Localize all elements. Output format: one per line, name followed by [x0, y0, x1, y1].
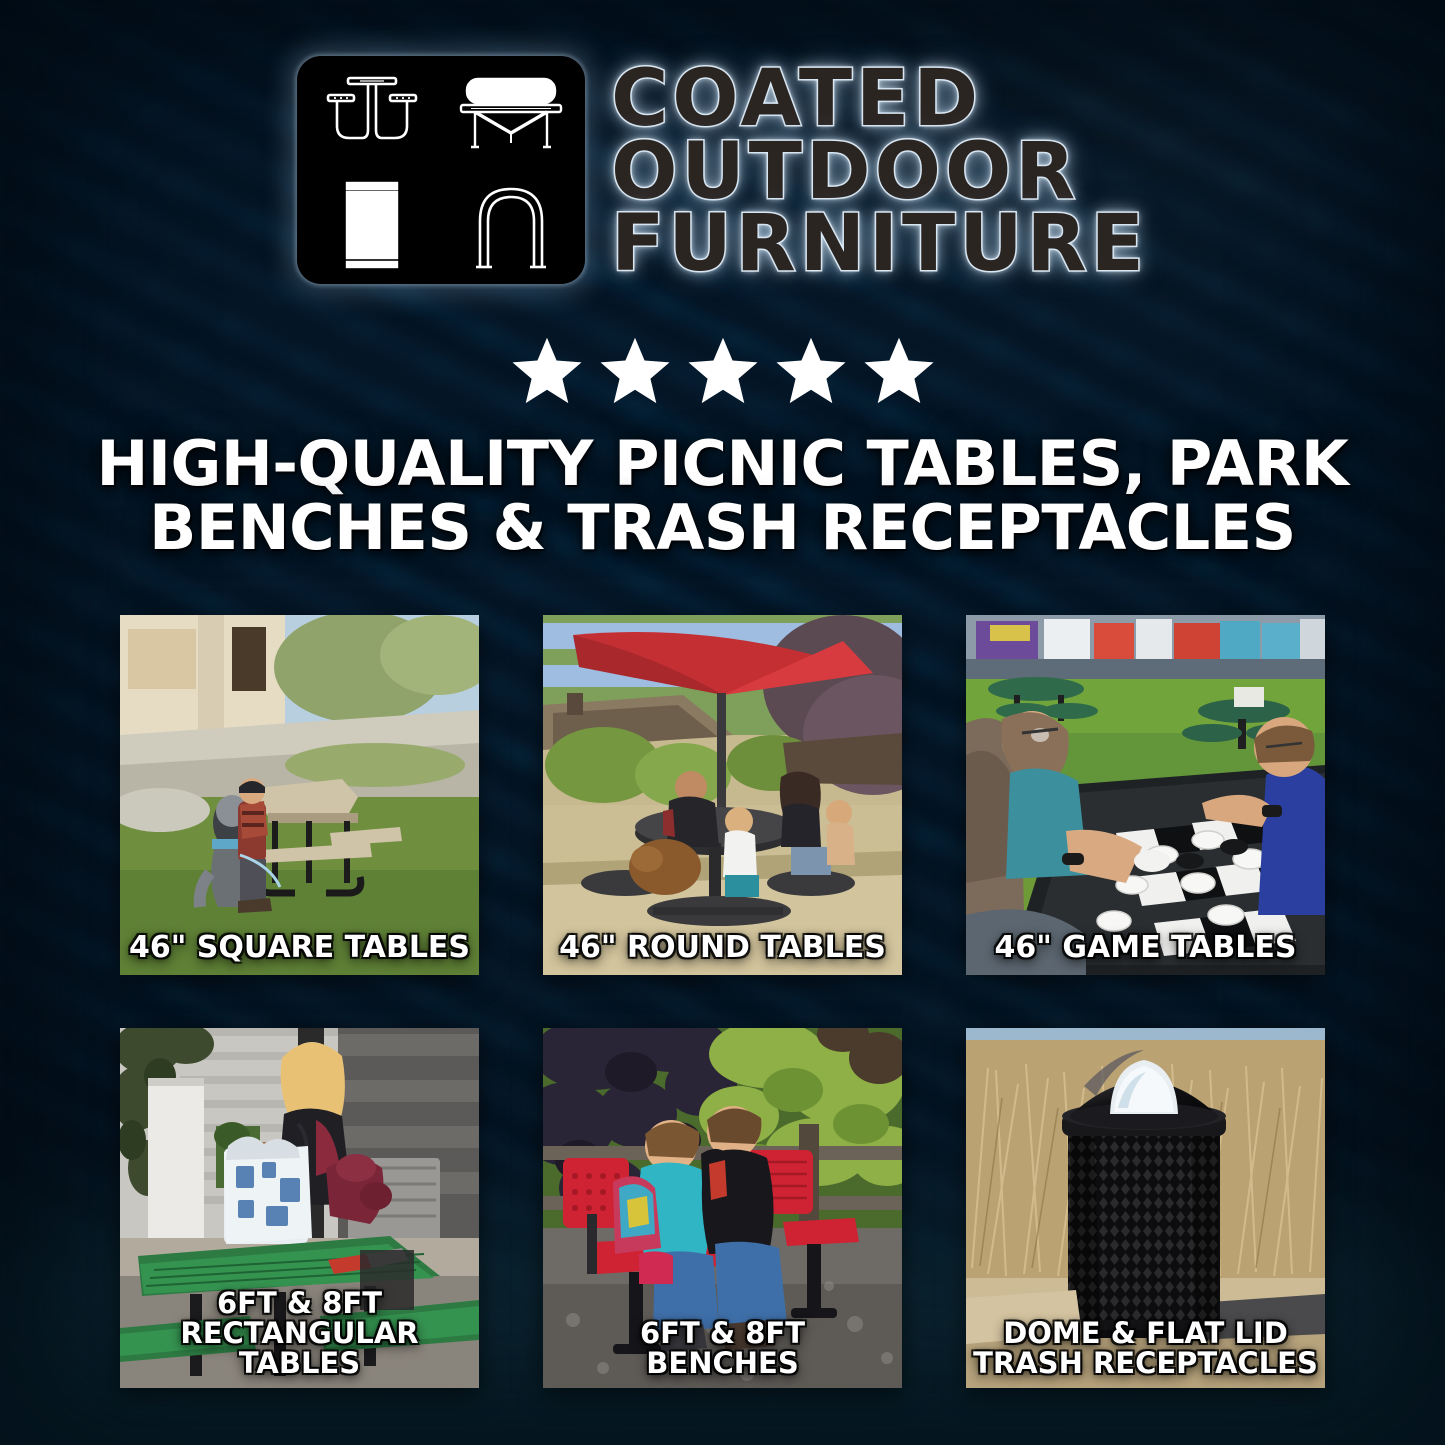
logo-quadrant-square-picnic-table [304, 63, 439, 168]
product-photo-round-tables [543, 615, 902, 975]
product-row-2: 6FT & 8FT RECTANGULAR TABLES [120, 1028, 1325, 1388]
product-card-benches[interactable]: 6FT & 8FT BENCHES [543, 1028, 902, 1388]
product-caption: 6FT & 8FT RECTANGULAR TABLES [120, 1288, 479, 1378]
star-rating [0, 334, 1445, 408]
star-icon [774, 334, 848, 408]
logo-quadrant-bench [443, 63, 578, 168]
star-icon [862, 334, 936, 408]
logo-quadrant-trash-receptacle [304, 172, 439, 277]
caption-line-2: RECTANGULAR TABLES [120, 1318, 479, 1378]
caption-line-1: 46" GAME TABLES [966, 932, 1325, 963]
caption-line-2: BENCHES [543, 1348, 902, 1378]
caption-line-1: 46" ROUND TABLES [543, 932, 902, 963]
product-caption: 6FT & 8FT BENCHES [543, 1318, 902, 1378]
star-icon [598, 334, 672, 408]
logo-quadrant-arch-bike-rack [443, 172, 578, 277]
brand-line-3: FURNITURE [611, 208, 1148, 281]
brand-line-2: OUTDOOR [611, 136, 1079, 209]
product-caption: DOME & FLAT LID TRASH RECEPTACLES [966, 1318, 1325, 1378]
marketing-poster: COATED OUTDOOR FURNITURE HIGH-QUALITY PI… [0, 0, 1445, 1445]
product-caption: 46" ROUND TABLES [543, 932, 902, 963]
product-card-round-tables[interactable]: 46" ROUND TABLES [543, 615, 902, 975]
product-photo-game-tables [966, 615, 1325, 975]
headline-line-2: BENCHES & TRASH RECEPTACLES [60, 496, 1385, 560]
product-card-square-tables[interactable]: 46" SQUARE TABLES [120, 615, 479, 975]
product-caption: 46" SQUARE TABLES [120, 932, 479, 963]
page-title: HIGH-QUALITY PICNIC TABLES, PARK BENCHES… [60, 432, 1385, 560]
product-card-trash-receptacles[interactable]: DOME & FLAT LID TRASH RECEPTACLES [966, 1028, 1325, 1388]
caption-line-1: 46" SQUARE TABLES [120, 932, 479, 963]
caption-line-1: 6FT & 8FT [120, 1288, 479, 1318]
arch-bike-rack-icon [466, 175, 556, 275]
product-grid: 46" SQUARE TABLES [120, 615, 1325, 1388]
caption-line-1: DOME & FLAT LID [966, 1318, 1325, 1348]
star-icon [686, 334, 760, 408]
logo-mark [297, 56, 585, 284]
product-card-game-tables[interactable]: 46" GAME TABLES [966, 615, 1325, 975]
brand-wordmark: COATED OUTDOOR FURNITURE [611, 63, 1148, 281]
trash-receptacle-icon [333, 175, 411, 275]
brand-header: COATED OUTDOOR FURNITURE [0, 56, 1445, 284]
star-icon [510, 334, 584, 408]
product-card-rectangular-tables[interactable]: 6FT & 8FT RECTANGULAR TABLES [120, 1028, 479, 1388]
bench-icon [455, 71, 567, 161]
product-photo-square-tables [120, 615, 479, 975]
brand-line-1: COATED [611, 63, 982, 136]
caption-line-2: TRASH RECEPTACLES [966, 1348, 1325, 1378]
product-row-1: 46" SQUARE TABLES [120, 615, 1325, 975]
headline-line-1: HIGH-QUALITY PICNIC TABLES, PARK [60, 432, 1385, 496]
caption-line-1: 6FT & 8FT [543, 1318, 902, 1348]
square-picnic-table-icon [318, 68, 426, 164]
product-caption: 46" GAME TABLES [966, 932, 1325, 963]
